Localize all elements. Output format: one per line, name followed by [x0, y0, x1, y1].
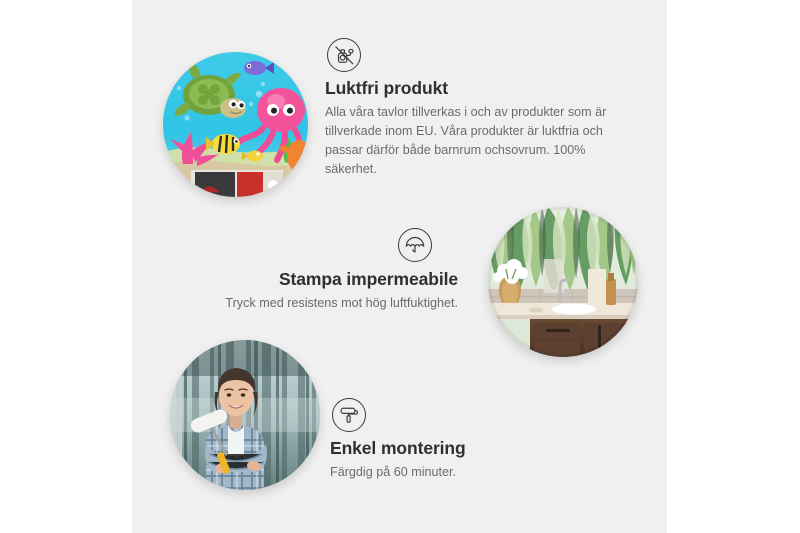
bathroom-tropical-wallpaper-photo [488, 207, 638, 357]
feature-body: Tryck med resistens mot hög luftfuktighe… [190, 294, 458, 313]
feature-body: Alla våra tavlor tillverkas i och av pro… [325, 103, 621, 180]
feature-waterproof: Stampa impermeabile Tryck med resistens … [190, 228, 458, 313]
woman-with-paint-roller-photo [170, 340, 320, 490]
underwater-cartoon-mural-photo [163, 52, 308, 197]
feature-easy-install: Enkel montering Färgdig på 60 minuter. [330, 398, 610, 482]
no-odor-perfume-icon [327, 38, 361, 72]
paint-roller-icon [332, 398, 366, 432]
feature-odorless: Luktfri produkt Alla våra tavlor tillver… [325, 38, 621, 180]
feature-title: Luktfri produkt [325, 78, 621, 99]
feature-title: Stampa impermeabile [190, 269, 458, 290]
umbrella-icon [398, 228, 432, 262]
product-features-banner: Luktfri produkt Alla våra tavlor tillver… [0, 0, 800, 533]
feature-title: Enkel montering [330, 438, 610, 459]
icon-row [190, 228, 458, 262]
feature-body: Färgdig på 60 minuter. [330, 463, 610, 482]
